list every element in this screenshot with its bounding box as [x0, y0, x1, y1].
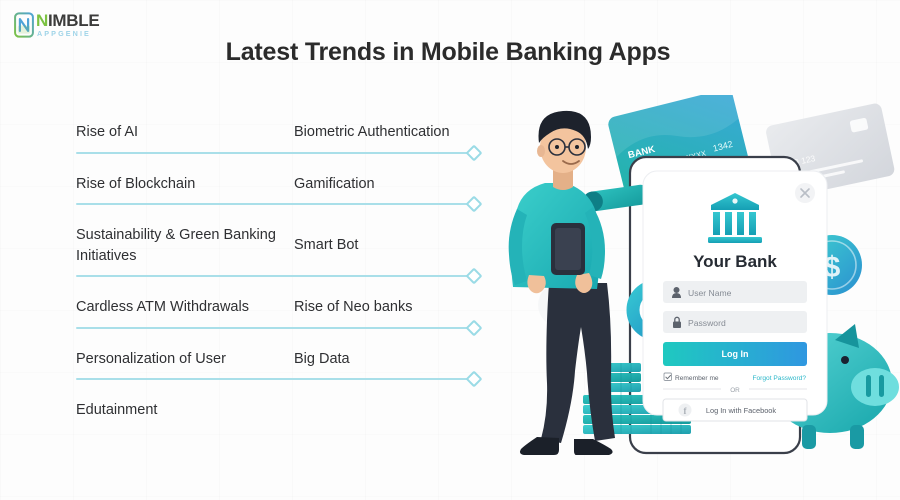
trend-divider: [76, 378, 476, 380]
trend-row: Rise of AI Biometric Authentication: [76, 122, 476, 154]
trend-divider: [76, 152, 476, 154]
facebook-button-label: Log In with Facebook: [706, 406, 777, 415]
row-spacer: [76, 329, 476, 349]
trend-label-left: Rise of AI: [76, 122, 294, 143]
username-placeholder: User Name: [688, 288, 732, 298]
trend-label-left: Edutainment: [76, 400, 294, 421]
logo-sub-text: APPGENIE: [36, 30, 99, 37]
trend-divider: [76, 275, 476, 277]
person-illustration: [509, 111, 615, 455]
password-placeholder: Password: [688, 318, 726, 328]
forgot-password-link[interactable]: Forgot Password?: [752, 375, 806, 382]
username-field[interactable]: User Name: [663, 281, 807, 303]
facebook-login-button[interactable]: f Log In with Facebook: [663, 399, 807, 421]
trend-label-right: Smart Bot: [294, 235, 476, 256]
trend-divider: [76, 327, 476, 329]
logo-main-text: NIMBLE: [36, 12, 99, 29]
page-title-text: Latest Trends in Mobile Banking Apps: [226, 38, 671, 67]
trend-label-right: Gamification: [294, 174, 476, 195]
logo-mark-icon: [14, 12, 34, 38]
trend-divider: [76, 203, 476, 205]
login-button[interactable]: Log In: [663, 342, 807, 366]
trend-label-left: Rise of Blockchain: [76, 174, 294, 195]
trend-row: Sustainability & Green Banking Initiativ…: [76, 225, 476, 277]
row-spacer: [76, 277, 476, 297]
remember-me-label: Remember me: [675, 375, 719, 382]
banking-illustration: $ $ 789 123 BANK 4356 XXXX XXXX 1342: [505, 95, 900, 455]
password-field[interactable]: Password: [663, 311, 807, 333]
trend-row: Edutainment: [76, 400, 476, 421]
facebook-icon: f: [679, 404, 692, 417]
trend-label-right: Rise of Neo banks: [294, 297, 476, 318]
row-spacer: [76, 205, 476, 225]
illustration-svg: $ $ 789 123 BANK 4356 XXXX XXXX 1342: [505, 95, 900, 455]
trend-label-right: Biometric Authentication: [294, 122, 476, 143]
row-spacer: [76, 380, 476, 400]
login-title: Your Bank: [693, 252, 777, 271]
trends-list: Rise of AI Biometric Authentication Rise…: [76, 122, 476, 421]
brand-logo[interactable]: NIMBLE APPGENIE: [14, 12, 99, 38]
row-spacer: [76, 154, 476, 174]
logo-letter-n: N: [36, 11, 48, 30]
logo-wordmark: NIMBLE APPGENIE: [36, 12, 99, 37]
page-title: Latest Trends in Mobile Banking Apps: [0, 38, 900, 67]
trend-row: Cardless ATM Withdrawals Rise of Neo ban…: [76, 297, 476, 329]
slide-canvas: NIMBLE APPGENIE Latest Trends in Mobile …: [0, 0, 900, 500]
login-button-label: Log In: [722, 349, 749, 359]
or-divider-label: OR: [730, 387, 740, 394]
trend-label-right: Big Data: [294, 349, 476, 370]
trend-label-left: Personalization of User: [76, 349, 294, 370]
trend-label-left: Sustainability & Green Banking Initiativ…: [76, 225, 294, 266]
trend-label-left: Cardless ATM Withdrawals: [76, 297, 294, 318]
logo-letters-imble: IMBLE: [48, 11, 99, 30]
trend-row: Rise of Blockchain Gamification: [76, 174, 476, 206]
close-icon[interactable]: [795, 183, 815, 203]
trend-row: Personalization of User Big Data: [76, 349, 476, 381]
